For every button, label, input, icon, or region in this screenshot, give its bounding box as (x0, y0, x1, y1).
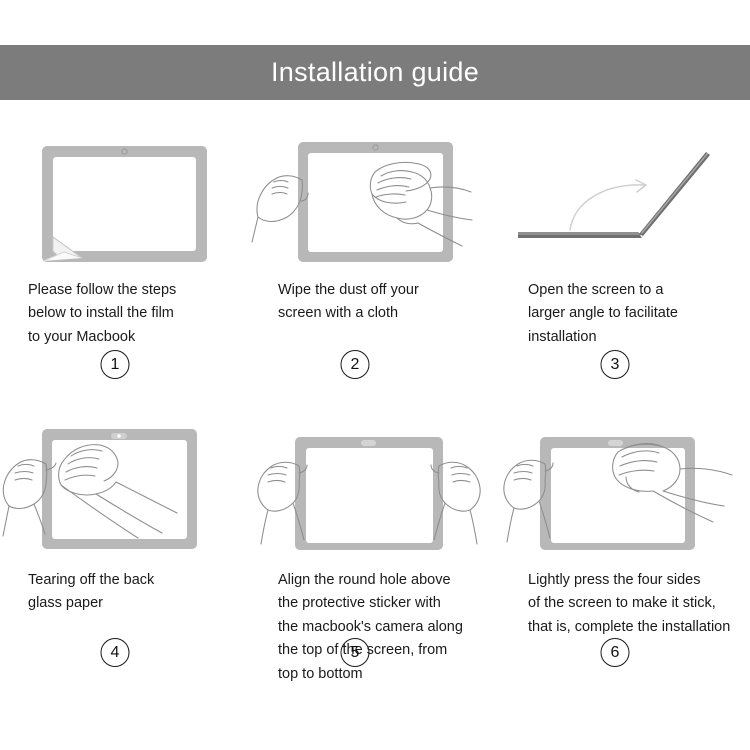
tablet-with-peeling-film-corner-icon (30, 130, 220, 270)
step-1-illustration (18, 125, 232, 275)
step-3-number-badge: 3 (601, 350, 630, 379)
step-5-caption: Align the round hole above the protectiv… (268, 569, 463, 686)
step-6-illustration (518, 415, 732, 565)
step-2-illustration (268, 125, 482, 275)
step-2-caption: Wipe the dust off your screen with a clo… (268, 279, 419, 326)
hand-wiping-screen-with-cloth-icon (250, 130, 500, 270)
step-card-3: Open the screen to a larger angle to fac… (500, 125, 750, 415)
page-title: Installation guide (271, 59, 479, 86)
step-card-1: Please follow the steps below to install… (0, 125, 250, 415)
header-bar: Installation guide (0, 45, 750, 100)
step-card-5: Align the round hole above the protectiv… (250, 415, 500, 705)
step-4-caption: Tearing off the back glass paper (18, 569, 154, 616)
step-4-illustration (18, 415, 232, 565)
step-card-6: Lightly press the four sides of the scre… (500, 415, 750, 705)
step-3-illustration (518, 125, 732, 275)
step-3-caption: Open the screen to a larger angle to fac… (518, 279, 678, 349)
laptop-side-view-opening-screen-icon (510, 130, 740, 270)
hands-pressing-screen-edges-icon (500, 420, 750, 560)
step-card-4: Tearing off the back glass paper 4 (0, 415, 250, 705)
step-2-number-badge: 2 (341, 350, 370, 379)
two-hands-tearing-back-paper-icon (0, 420, 250, 560)
step-4-number-badge: 4 (101, 638, 130, 667)
step-6-caption: Lightly press the four sides of the scre… (518, 569, 730, 639)
steps-grid: Please follow the steps below to install… (0, 125, 750, 705)
step-1-caption: Please follow the steps below to install… (18, 279, 176, 349)
step-5-illustration (268, 415, 482, 565)
two-hands-aligning-film-on-screen-icon (250, 420, 500, 560)
step-card-2: Wipe the dust off your screen with a clo… (250, 125, 500, 415)
step-6-number-badge: 6 (601, 638, 630, 667)
step-1-number-badge: 1 (101, 350, 130, 379)
step-5-number-badge: 5 (341, 638, 370, 667)
